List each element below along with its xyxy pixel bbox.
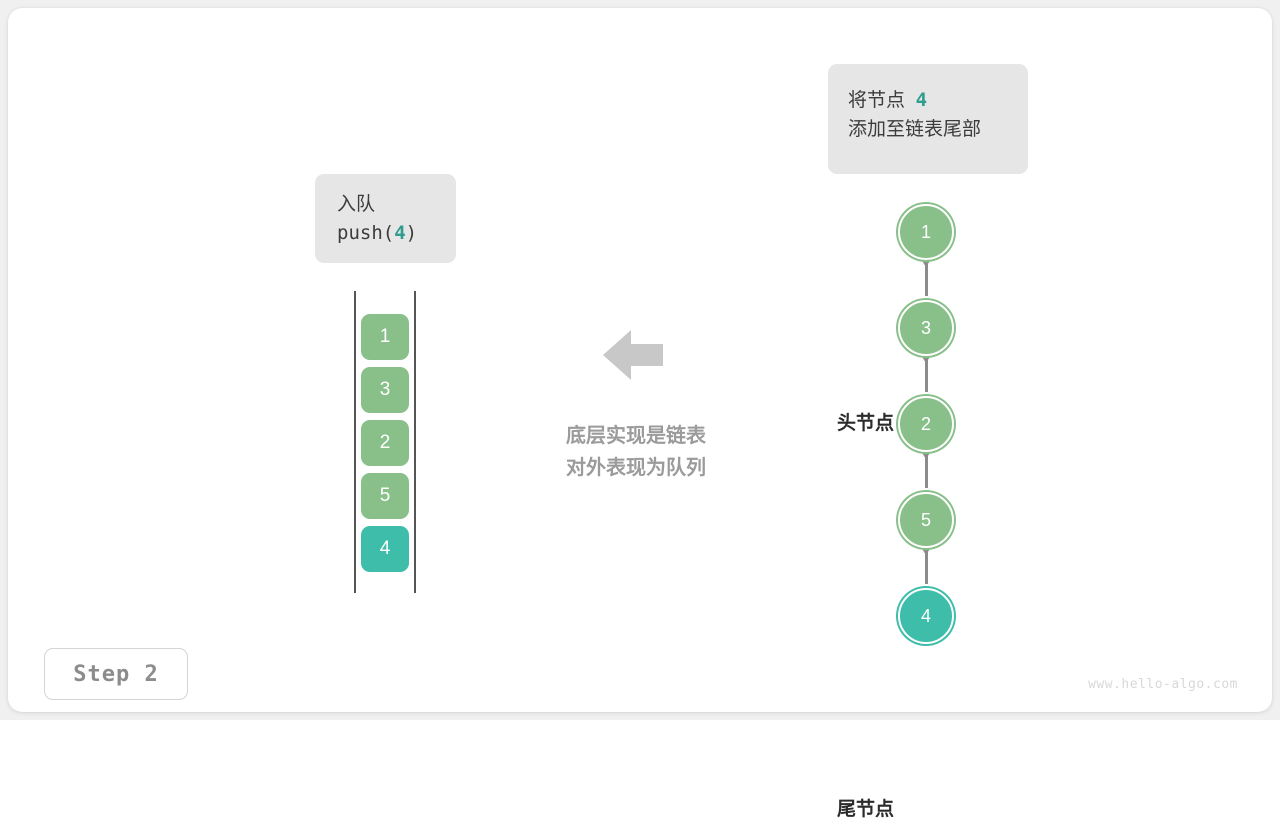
list-node: 2 [898,396,954,452]
caption-line1: 底层实现是链表 [536,420,736,452]
callout-append-line2: 添加至链表尾部 [848,115,1028,144]
callout-append-to-tail: 将节点 4 添加至链表尾部 [828,64,1028,174]
watermark: www.hello-algo.com [1088,677,1238,692]
caption-implementation: 底层实现是链表 对外表现为队列 [536,420,736,484]
callout-push-title: 入队 [337,190,456,219]
stack-rail-right [414,291,416,593]
head-node-label: 头节点 [774,408,894,435]
stack-container: 1 3 2 5 4 [348,291,422,593]
diagram-stage: 将节点 4 添加至链表尾部 入队 push(4) 1 3 2 5 4 底层实现是… [0,0,1280,720]
tail-node-label: 尾节点 [774,794,894,821]
caption-line2: 对外表现为队列 [536,452,736,484]
list-node: 1 [898,204,954,260]
callout-push: 入队 push(4) [315,174,456,263]
stack-rail-left [354,291,356,593]
callout-append-value: 4 [916,89,927,111]
left-arrow-icon [603,328,663,382]
callout-append-prefix: 将节点 [848,90,905,111]
linked-list: 头节点 尾节点 1 3 2 5 4 [778,198,978,658]
diagram-canvas: 将节点 4 添加至链表尾部 入队 push(4) 1 3 2 5 4 底层实现是… [8,8,1272,712]
stack-cell-highlight: 4 [361,526,409,572]
list-node-highlight: 4 [898,588,954,644]
stack-cell: 2 [361,420,409,466]
callout-push-code-value: 4 [394,222,405,244]
stack-cell: 3 [361,367,409,413]
stack-cell: 1 [361,314,409,360]
callout-push-code-suffix: ) [406,222,417,244]
callout-push-code: push(4) [337,219,456,248]
step-badge: Step 2 [44,648,188,700]
callout-push-code-prefix: push( [337,222,394,244]
callout-append-line1: 将节点 4 [848,86,1028,115]
list-node: 3 [898,300,954,356]
list-node: 5 [898,492,954,548]
stack-cell: 5 [361,473,409,519]
